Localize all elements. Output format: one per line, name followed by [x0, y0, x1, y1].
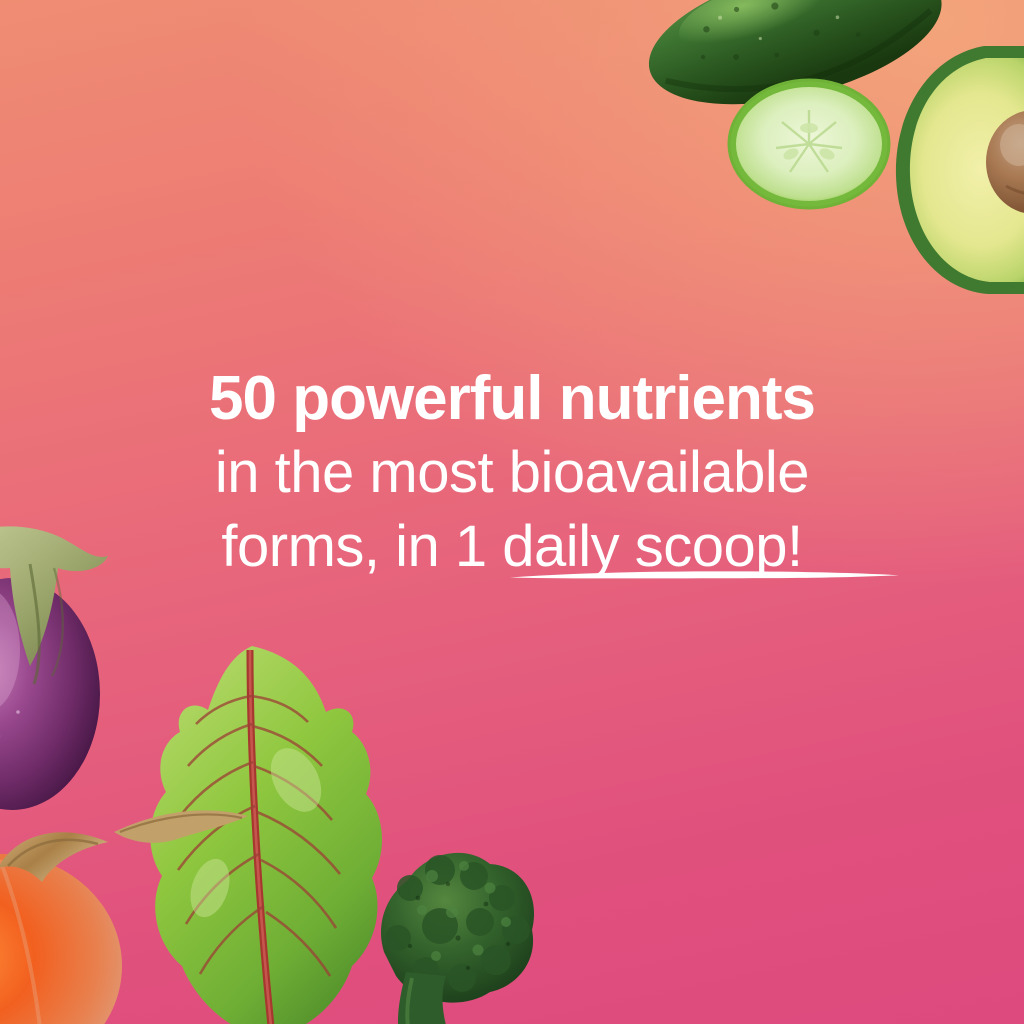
avocado-image	[888, 44, 1024, 296]
headline-block: 50 powerful nutrients in the most bioava…	[0, 362, 1024, 584]
promo-canvas: 50 powerful nutrients in the most bioava…	[0, 0, 1024, 1024]
headline-line-2: in the most bioavailable	[0, 436, 1024, 510]
headline-line-3-emphasis: 1 daily scoop!	[455, 514, 803, 579]
broccoli-image	[340, 826, 540, 1024]
headline-line-1: 50 powerful nutrients	[0, 362, 1024, 436]
headline-line-3: forms, in 1 daily scoop!	[221, 510, 802, 584]
headline-line-3-prefix: forms, in	[221, 514, 455, 579]
cucumber-slice-image	[726, 76, 892, 212]
